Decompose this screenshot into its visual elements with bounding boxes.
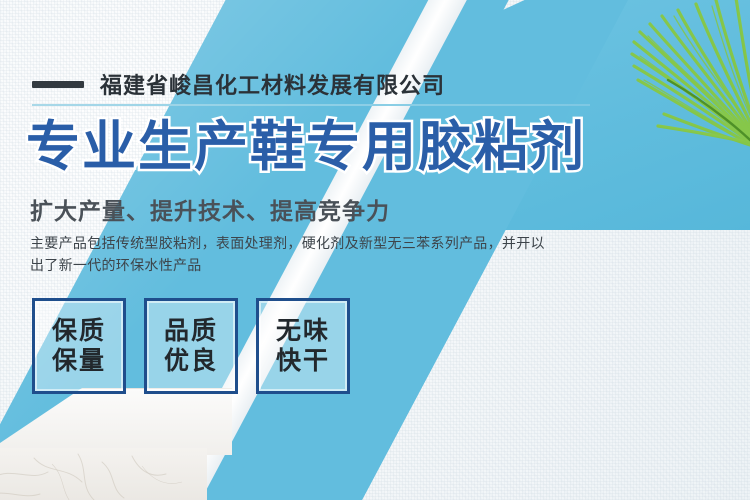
feature-box: 无味 快干 (256, 298, 350, 394)
subtitle: 扩大产量、提升技术、提高竞争力 (30, 192, 390, 226)
feature-box-line2: 快干 (276, 346, 330, 377)
divider-rule (32, 104, 590, 106)
feature-box: 品质 优良 (144, 298, 238, 394)
company-name-row: 福建省峻昌化工材料发展有限公司 (32, 68, 445, 100)
dash-mark-icon (32, 81, 84, 88)
promotional-banner: 福建省峻昌化工材料发展有限公司 专业生产鞋专用胶粘剂 扩大产量、提升技术、提高竞… (0, 0, 750, 500)
headline: 专业生产鞋专用胶粘剂 (26, 118, 586, 177)
banner-content: 福建省峻昌化工材料发展有限公司 专业生产鞋专用胶粘剂 扩大产量、提升技术、提高竞… (0, 0, 750, 500)
feature-box-list: 保质 保量 品质 优良 无味 快干 (32, 298, 350, 394)
feature-box-line2: 优良 (164, 346, 218, 377)
feature-box-line1: 保质 (52, 316, 106, 347)
feature-box-line1: 品质 (164, 316, 218, 347)
feature-box-line2: 保量 (52, 346, 106, 377)
feature-box: 保质 保量 (32, 298, 126, 394)
description-paragraph: 主要产品包括传统型胶粘剂，表面处理剂，硬化剂及新型无三苯系列产品，并开以出了新一… (30, 232, 550, 276)
company-name: 福建省峻昌化工材料发展有限公司 (100, 68, 445, 100)
feature-box-line1: 无味 (276, 316, 330, 347)
